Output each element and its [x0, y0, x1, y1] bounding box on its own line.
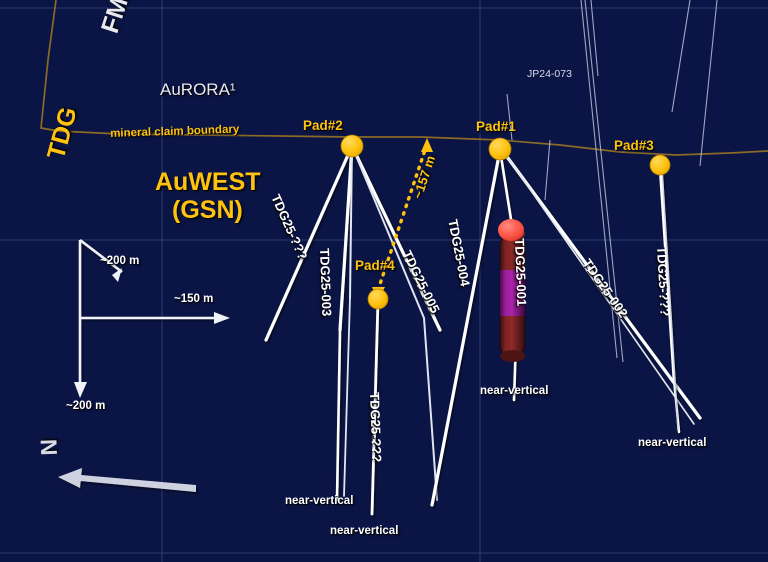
pad-marker-pad2[interactable] — [341, 135, 363, 157]
drill-plan-map: FMAR AuRORA¹ TDG AuWEST (GSN) mineral cl… — [0, 0, 768, 562]
map-canvas — [0, 0, 768, 562]
pad-marker-pad1[interactable] — [489, 138, 511, 160]
map-background — [0, 0, 768, 562]
pad-marker-pad3[interactable] — [650, 155, 670, 175]
pad-marker-pad4[interactable] — [368, 289, 388, 309]
core-stick-tdg25-001 — [498, 219, 525, 362]
